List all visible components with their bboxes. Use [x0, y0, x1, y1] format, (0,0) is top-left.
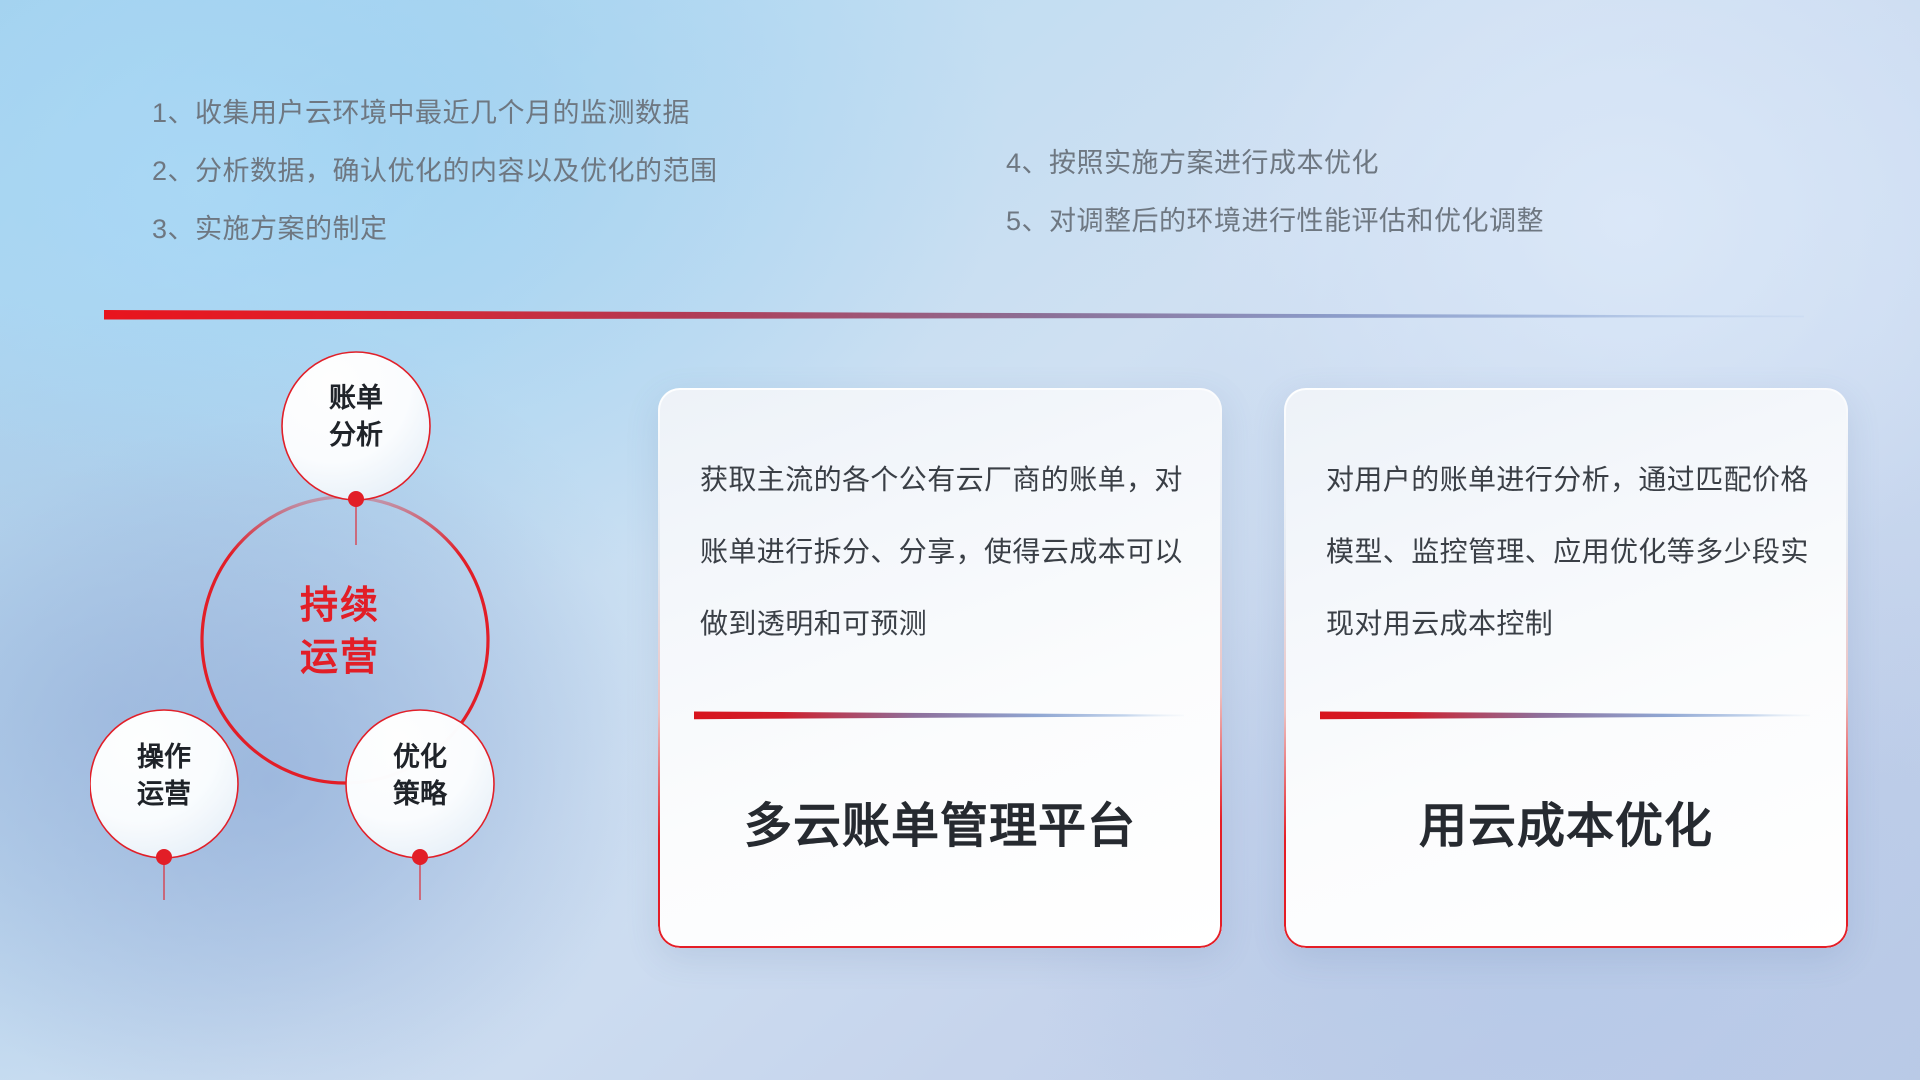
step-item-1: 1、收集用户云环境中最近几个月的监测数据: [152, 100, 718, 127]
card-title: 用云成本优化: [1284, 786, 1848, 856]
card-title: 多云账单管理平台: [658, 786, 1222, 856]
step-item-5: 5、对调整后的环境进行性能评估和优化调整: [1006, 208, 1544, 235]
venn-node-dot-right: [412, 849, 428, 865]
feature-card-cloud-cost-optimization[interactable]: 对用户的账单进行分析，通过匹配价格模型、监控管理、应用优化等多少段实现对用云成本…: [1284, 388, 1848, 948]
step-item-4: 4、按照实施方案进行成本优化: [1006, 150, 1544, 177]
steps-right-column: 4、按照实施方案进行成本优化 5、对调整后的环境进行性能评估和优化调整: [1006, 150, 1544, 235]
feature-card-multi-cloud-billing-platform[interactable]: 获取主流的各个公有云厂商的账单，对账单进行拆分、分享，使得云成本可以做到透明和可…: [658, 388, 1222, 948]
card-body-text: 获取主流的各个公有云厂商的账单，对账单进行拆分、分享，使得云成本可以做到透明和可…: [700, 444, 1186, 660]
section-divider: [104, 308, 1804, 322]
venn-node-label-line1: 账单: [329, 383, 383, 413]
venn-node-label-line2: 分析: [329, 420, 383, 450]
card-accent-rule: [694, 711, 1184, 720]
venn-center-label-line1: 持续: [300, 585, 380, 627]
venn-node-dot-left: [156, 849, 172, 865]
venn-node-label-line2: 运营: [137, 779, 191, 809]
steps-left-column: 1、收集用户云环境中最近几个月的监测数据 2、分析数据，确认优化的内容以及优化的…: [152, 100, 718, 243]
slide-canvas: 1、收集用户云环境中最近几个月的监测数据 2、分析数据，确认优化的内容以及优化的…: [0, 0, 1920, 1080]
venn-center-label-line2: 运营: [300, 637, 380, 679]
venn-node-ops-operation[interactable]: 操作 运营: [90, 710, 238, 865]
step-item-2: 2、分析数据，确认优化的内容以及优化的范围: [152, 158, 718, 185]
venn-node-label-line1: 操作: [137, 742, 191, 772]
continuous-operation-diagram: 账单 分析 操作 运营 优化 策略 持续 运营: [90, 340, 650, 940]
venn-node-label-line2: 策略: [393, 778, 448, 809]
venn-node-label-line1: 优化: [393, 742, 447, 772]
card-body-text: 对用户的账单进行分析，通过匹配价格模型、监控管理、应用优化等多少段实现对用云成本…: [1326, 444, 1812, 660]
card-accent-rule: [1320, 711, 1810, 720]
step-item-3: 3、实施方案的制定: [152, 216, 718, 243]
venn-node-optimization-strategy[interactable]: 优化 策略: [346, 710, 494, 865]
venn-node-bill-analysis[interactable]: 账单 分析: [282, 352, 430, 507]
venn-node-dot-top: [348, 491, 364, 507]
